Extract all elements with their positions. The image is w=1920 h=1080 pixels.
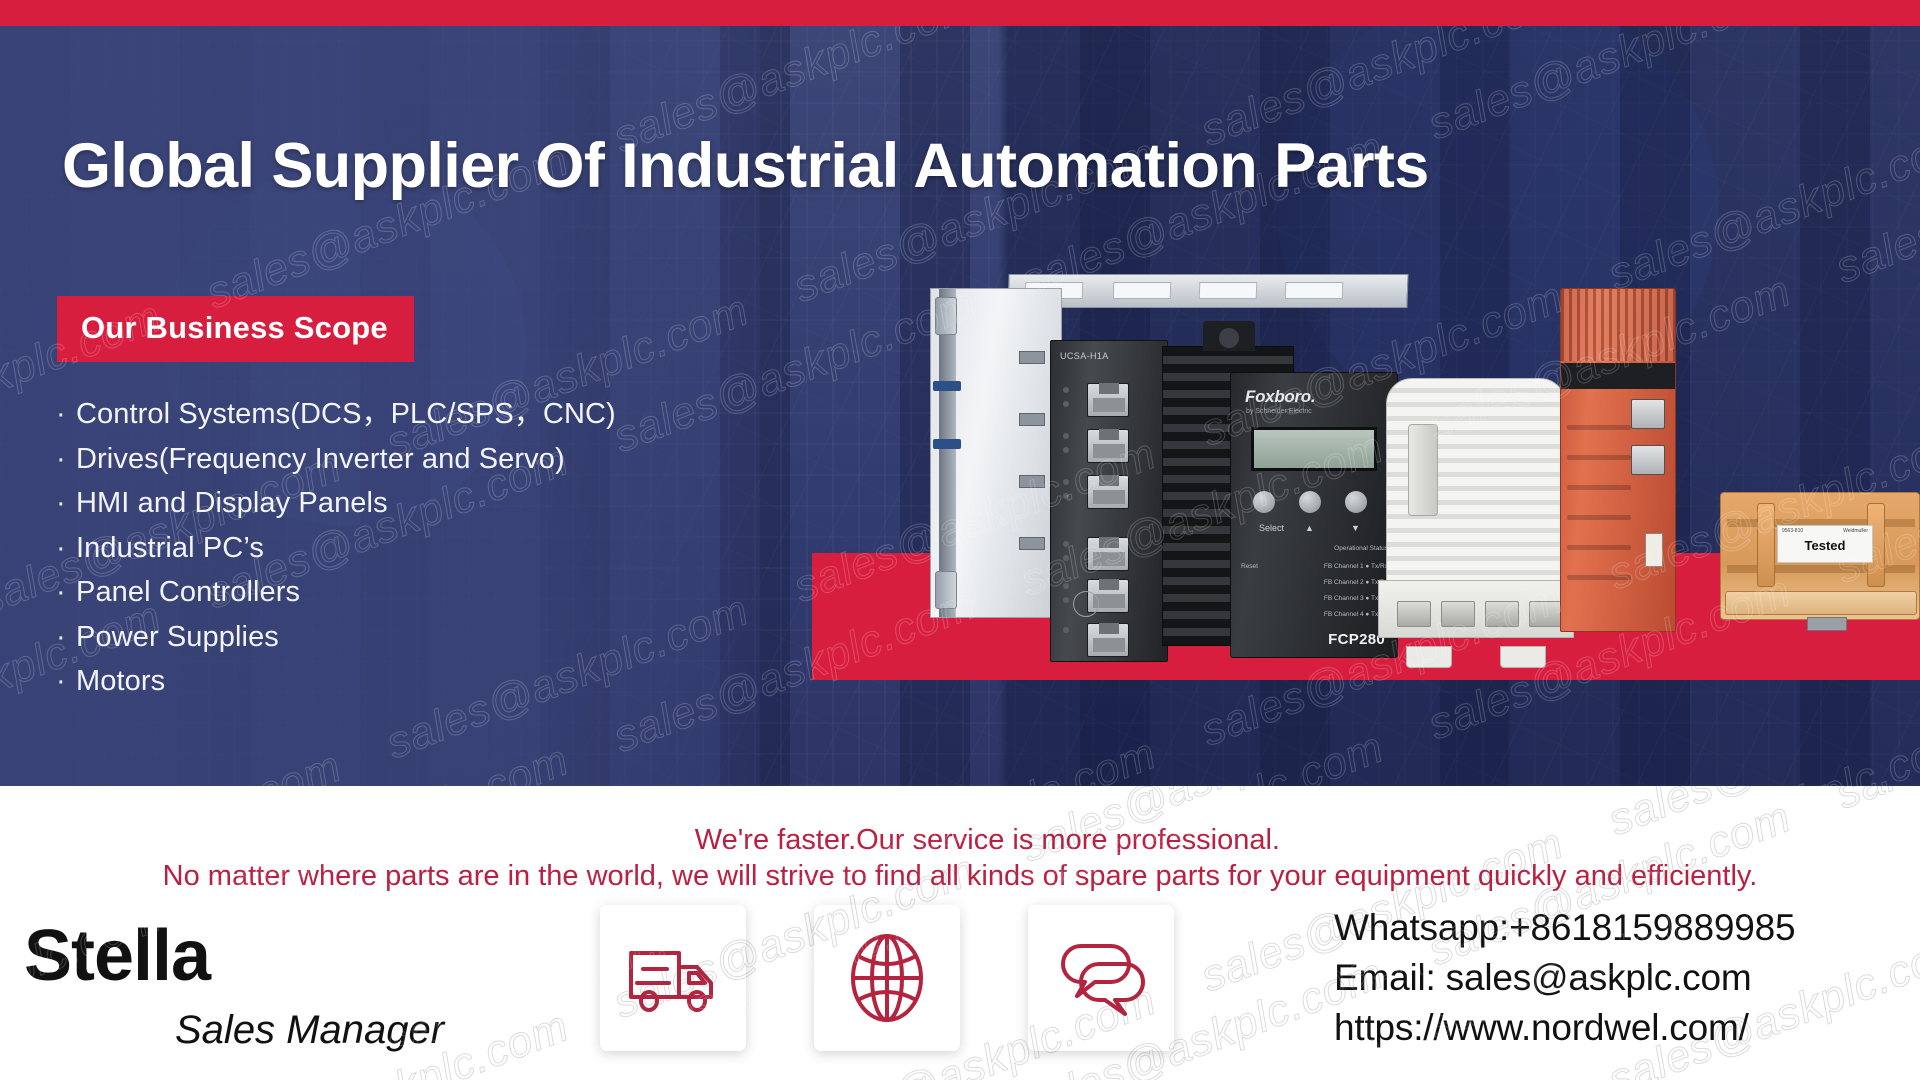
tagline-primary: We're faster.Our service is more profess… <box>0 824 1280 857</box>
product-weidmuller-terminal: 9563-810 Weidmuller Tested <box>1720 492 1920 620</box>
list-item-label: Power Supplies <box>76 621 279 653</box>
service-card-global[interactable] <box>814 905 960 1051</box>
list-item-label: Drives(Frequency Inverter and Servo) <box>76 443 565 475</box>
contact-person-name: Stella <box>24 915 210 997</box>
foxboro-brand-label: Foxboro. <box>1245 387 1315 407</box>
product-foxboro-controller: Foxboro. by Schneider Electric Select ▲ … <box>1230 372 1398 658</box>
list-item-label: Motors <box>76 665 165 697</box>
bullet-dot: · <box>56 526 76 571</box>
part-number: 9563-810 <box>1782 528 1803 534</box>
bullet-dot: · <box>56 615 76 660</box>
list-item: ·HMI and Display Panels <box>56 481 616 526</box>
tagline-secondary: No matter where parts are in the world, … <box>0 860 1920 893</box>
bullet-dot: · <box>56 481 76 526</box>
list-item: ·Control Systems(DCS，PLC/SPS，CNC) <box>56 392 616 437</box>
delivery-truck-icon <box>627 943 719 1013</box>
module-model-label: UCSA-H1A <box>1060 351 1109 361</box>
list-item-label: Control Systems(DCS，PLC/SPS，CNC) <box>76 398 616 430</box>
business-scope-tag: Our Business Scope <box>57 296 414 362</box>
service-icon-cards <box>600 905 1174 1051</box>
product-orange-io-module <box>1560 288 1676 632</box>
reset-label: Reset <box>1241 563 1388 570</box>
bullet-dot: · <box>56 659 76 704</box>
lcd-display <box>1251 427 1377 471</box>
tested-label-sticker: 9563-810 Weidmuller Tested <box>1777 525 1873 563</box>
foxboro-model-label: FCP280 <box>1328 631 1385 648</box>
list-item-label: Panel Controllers <box>76 576 300 608</box>
weidmuller-brand: Weidmuller <box>1843 528 1868 534</box>
chat-bubbles-icon <box>1055 938 1147 1018</box>
foxboro-sub-label: by Schneider Electric <box>1246 408 1312 415</box>
product-ethernet-module: UCSA-H1A <box>1050 340 1168 662</box>
business-scope-label: Our Business Scope <box>81 310 388 345</box>
list-item: ·Motors <box>56 659 616 704</box>
bullet-dot: · <box>56 437 76 482</box>
contact-person-role: Sales Manager <box>175 1008 444 1053</box>
contact-email[interactable]: Email: sales@askplc.com <box>1334 953 1795 1003</box>
banner-canvas: Global Supplier Of Industrial Automation… <box>0 0 1920 1080</box>
globe-icon <box>846 932 928 1024</box>
contact-details: Whatsapp:+8618159889985 Email: sales@ask… <box>1334 903 1795 1053</box>
bullet-dot: · <box>56 570 76 615</box>
contact-website[interactable]: https://www.nordwel.com/ <box>1334 1003 1795 1053</box>
list-item-label: Industrial PC’s <box>76 532 264 564</box>
list-item: ·Panel Controllers <box>56 570 616 615</box>
service-card-shipping[interactable] <box>600 905 746 1051</box>
tested-text: Tested <box>1778 538 1872 553</box>
page-title: Global Supplier Of Industrial Automation… <box>62 130 1862 202</box>
product-ge-top-card <box>1007 274 1408 308</box>
product-abb-drive <box>1378 378 1574 668</box>
business-scope-list: ·Control Systems(DCS，PLC/SPS，CNC) ·Drive… <box>56 392 616 704</box>
service-card-chat[interactable] <box>1028 905 1174 1051</box>
ge-logo-icon <box>1073 591 1099 617</box>
product-ge-rack-card <box>930 288 1062 618</box>
contact-whatsapp[interactable]: Whatsapp:+8618159889985 <box>1334 903 1795 953</box>
top-accent-rule <box>0 0 1920 26</box>
product-showcase: UCSA-H1A Foxboro. by Schneider Electric … <box>930 280 1920 680</box>
list-item: ·Industrial PC’s <box>56 526 616 571</box>
bullet-dot: · <box>56 392 76 437</box>
list-item: ·Drives(Frequency Inverter and Servo) <box>56 437 616 482</box>
list-item-label: HMI and Display Panels <box>76 487 388 519</box>
list-item: ·Power Supplies <box>56 615 616 660</box>
select-label: Select <box>1259 523 1284 533</box>
